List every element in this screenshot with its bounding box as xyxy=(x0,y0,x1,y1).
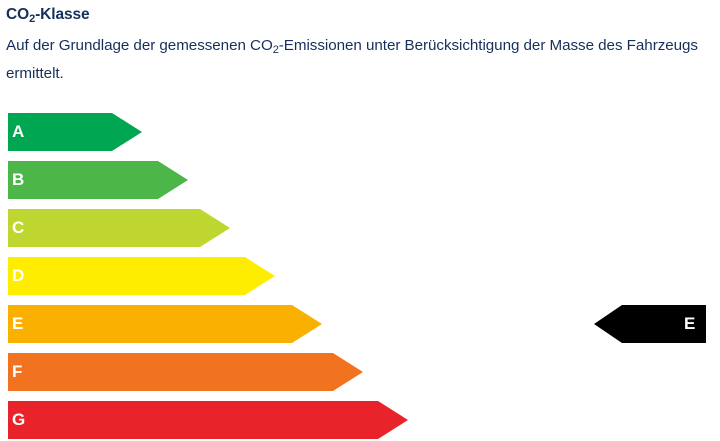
co2-class-bar-c xyxy=(8,209,230,247)
co2-class-row-f: F xyxy=(0,353,720,391)
description-text: Auf der Grundlage der gemessenen CO2-Emi… xyxy=(6,32,720,88)
co2-class-row-d: D xyxy=(0,257,720,295)
description-subscript: 2 xyxy=(273,44,279,56)
co2-class-bar-d xyxy=(8,257,275,295)
co2-class-panel: CO2-Klasse Auf der Grundlage der gemesse… xyxy=(0,0,720,441)
co2-class-bar-f xyxy=(8,353,363,391)
co2-class-row-a: A xyxy=(0,113,720,151)
co2-class-indicator-row: E xyxy=(0,305,720,343)
page-title: CO2-Klasse xyxy=(6,4,718,26)
header: CO2-Klasse Auf der Grundlage der gemesse… xyxy=(6,4,718,88)
description-part-1: Auf der Grundlage der gemessenen CO xyxy=(6,37,273,54)
co2-class-row-b: B xyxy=(0,161,720,199)
co2-class-bar-b xyxy=(8,161,188,199)
co2-class-row-g: G xyxy=(0,401,720,439)
page-title-suffix: -Klasse xyxy=(35,6,89,23)
co2-class-indicator-label: E xyxy=(684,305,695,343)
co2-class-scale: ABCDEFGE xyxy=(0,113,720,441)
page-title-prefix: CO xyxy=(6,6,29,23)
page-title-subscript: 2 xyxy=(29,13,35,25)
co2-class-row-c: C xyxy=(0,209,720,247)
co2-class-bar-g xyxy=(8,401,408,439)
co2-class-bar-a xyxy=(8,113,142,151)
